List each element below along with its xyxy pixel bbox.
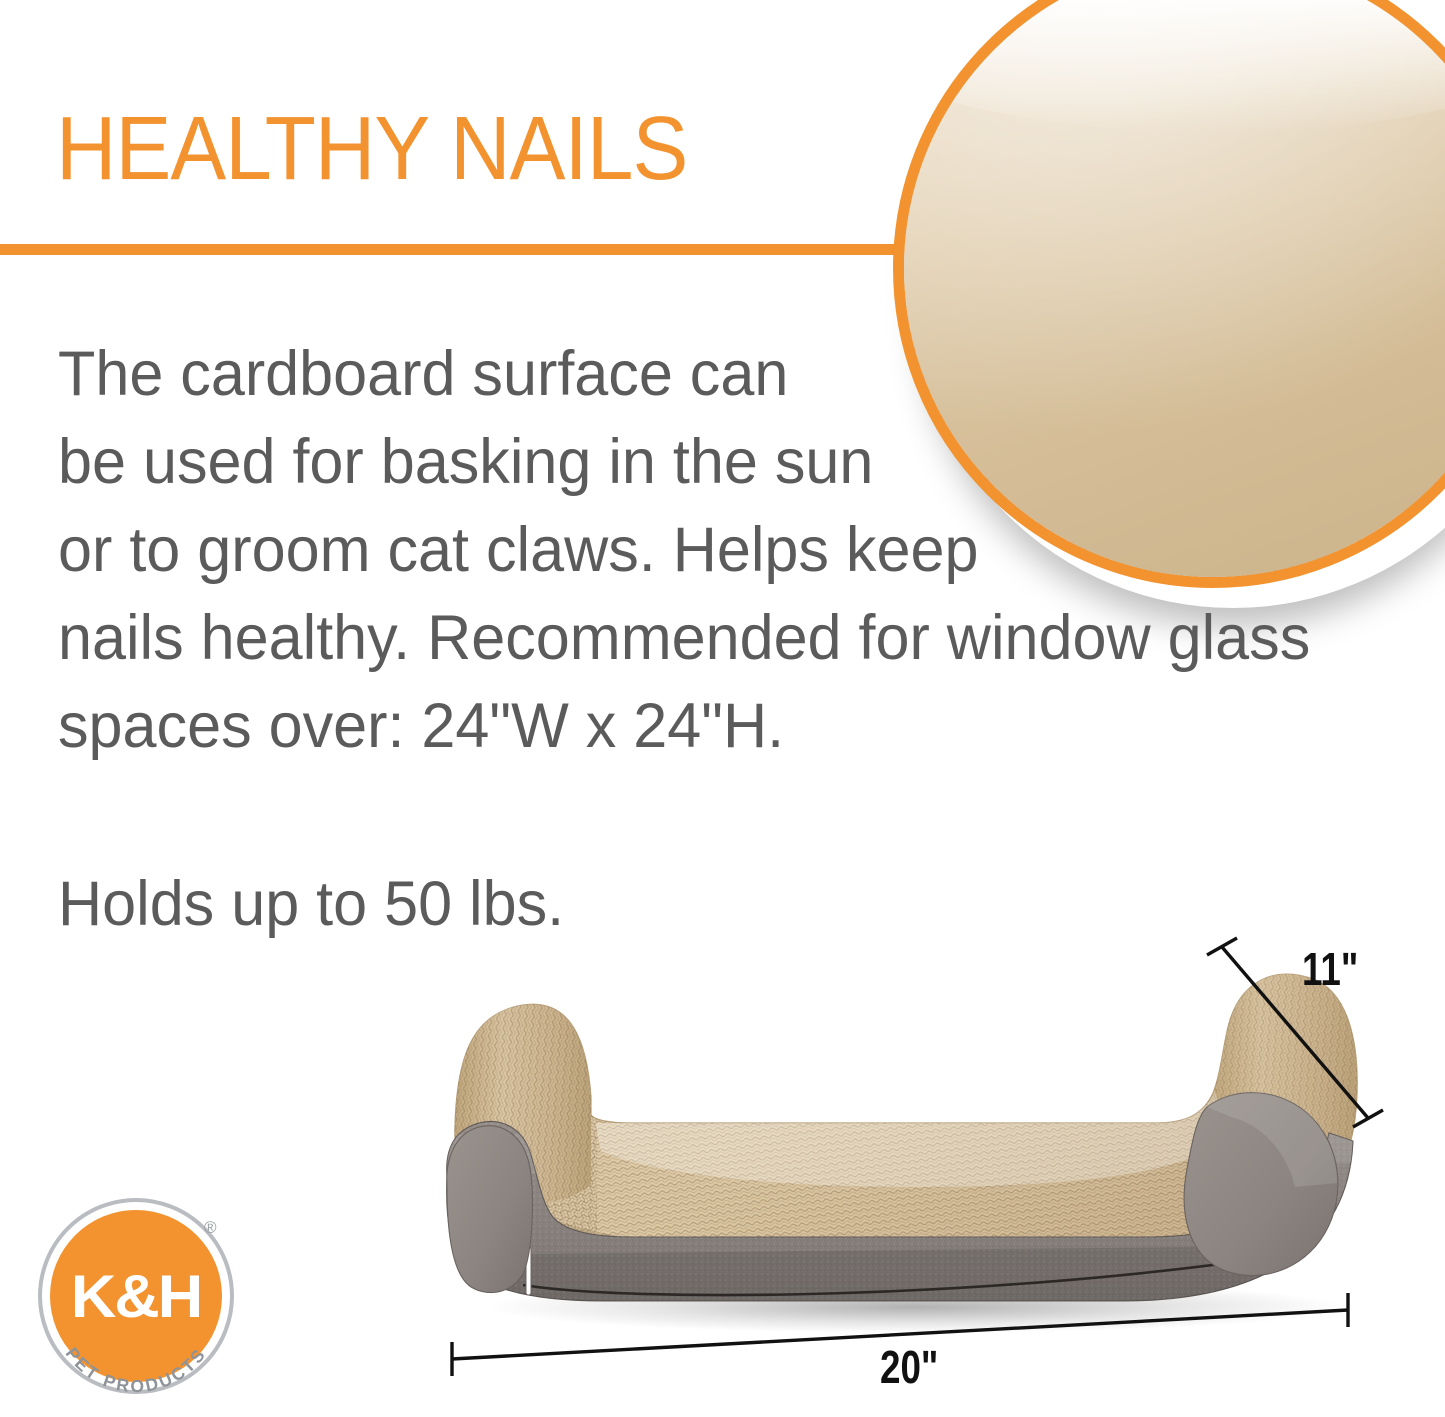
product-right-endcap: [1184, 1093, 1338, 1276]
brand-logo: K&H ® PET PRODUCTS: [36, 1196, 252, 1412]
page-title: HEALTHY NAILS: [56, 104, 687, 194]
depth-dimension-label: 11": [1302, 942, 1358, 996]
logo-tagline-text: PET PRODUCTS: [62, 1344, 211, 1397]
description-paragraph: The cardboard surface can be used for ba…: [58, 330, 1368, 770]
header-divider-rule: [0, 244, 908, 255]
infographic-canvas: HEALTHY NAILS The cardboard surface can …: [0, 0, 1445, 1417]
product-illustration: [395, 955, 1405, 1355]
product-left-endcap: [447, 1126, 533, 1293]
width-dimension-label: 20": [880, 1340, 938, 1394]
logo-tagline-arc: PET PRODUCTS: [36, 1196, 252, 1412]
weight-capacity-note: Holds up to 50 lbs.: [58, 860, 564, 948]
